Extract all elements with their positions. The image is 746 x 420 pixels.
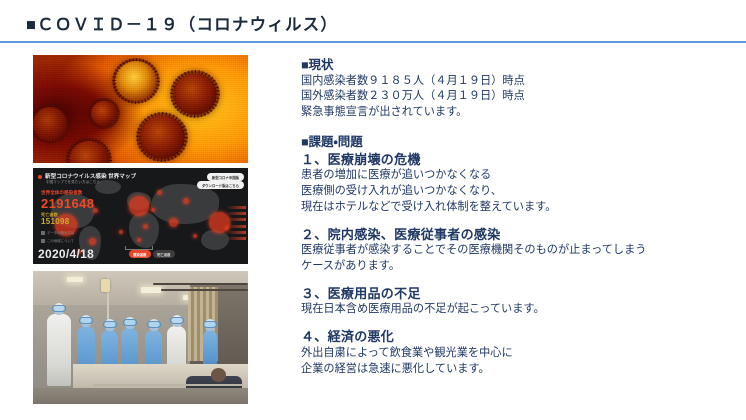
spacer: [301, 216, 731, 226]
legend-label: この地域について: [47, 239, 74, 243]
map-total-cases-value: 2191648: [41, 196, 94, 211]
section-heading-current-status: ■現状: [301, 57, 731, 74]
issue-line: 現在はホテルなどで受け入れ体制を整えています。: [301, 200, 731, 216]
ceiling-light: [141, 287, 161, 293]
map-hotspot: [89, 238, 96, 245]
map-subtitle-link[interactable]: 中国マップでを見たい方はこちら: [46, 180, 100, 185]
issue-line: 企業の経営は急速に悪化しています。: [301, 362, 731, 378]
medical-staff-person: [47, 314, 71, 386]
map-hotspot: [151, 208, 155, 212]
ranking-bar: [226, 225, 246, 228]
map-hotspot: [143, 224, 148, 229]
ceiling-light: [67, 277, 83, 282]
ceiling-pipe: [161, 289, 248, 291]
map-country-ranking-list: [226, 206, 246, 243]
ranking-bar: [226, 231, 246, 234]
section-heading-issues: ■課題・問題: [301, 134, 731, 151]
ward-floor: [33, 388, 248, 404]
legend-swatch-icon: [41, 239, 45, 243]
map-hotspot: [157, 190, 162, 195]
ceiling-pipe: [153, 283, 248, 285]
issue-line: 外出自粛によって飲食業や観光業を中心に: [301, 346, 731, 362]
map-hotspot: [183, 198, 189, 204]
face-shield-icon: [123, 319, 137, 326]
legend-swatch-icon: [41, 231, 45, 235]
hospital-ward-image: [33, 271, 248, 404]
issue-line: 医療側の受け入れが追いつかなくなり、: [301, 184, 731, 200]
map-hotspot: [129, 196, 149, 216]
issue-title-4: ４、経済の悪化: [301, 328, 731, 345]
map-legend-item[interactable]: データの読み方は: [41, 230, 74, 235]
text-column: ■現状 国内感染者数９１８５人（４月１９日）時点 国外感染者数２３０万人（４月１…: [301, 57, 731, 378]
status-line: 緊急事態宣言が出されています。: [301, 105, 731, 121]
map-hotspot: [169, 218, 178, 227]
face-shield-icon: [103, 321, 117, 328]
spacer: [301, 318, 731, 328]
world-infection-map-image: 新型コロナウイルス感染 世界マップ 中国マップでを見たい方はこちら 世界全体の感…: [33, 168, 248, 264]
map-toggle-cases[interactable]: 感染者数: [129, 250, 151, 258]
coronavirus-micrograph-image: [33, 55, 248, 163]
issue-line: 現在日本含め医療用品の不足が起こっています。: [301, 302, 731, 318]
issue-line: 医療従事者が感染することでその医療機関そのものが止まってしまう: [301, 243, 731, 259]
face-shield-icon: [203, 321, 217, 328]
ranking-bar: [226, 237, 246, 240]
issue-line: 患者の増加に医療が追いつかなくなる: [301, 168, 731, 184]
patient-head: [211, 368, 226, 382]
map-landmass-africa: [129, 212, 159, 248]
map-date-label: 2020/4/18: [38, 247, 94, 261]
face-shield-icon: [52, 305, 66, 312]
face-shield-icon: [147, 321, 161, 328]
map-toggle-deaths[interactable]: 死亡者数: [153, 250, 175, 258]
issue-line: ケースがあります。: [301, 259, 731, 275]
bed-rail: [93, 384, 243, 386]
legend-label: データの読み方は: [47, 231, 74, 235]
spacer: [301, 275, 731, 285]
spacer: [301, 121, 731, 134]
map-deaths-value: 151098: [41, 217, 70, 226]
title-divider: [0, 41, 746, 43]
map-status-dot-icon: [38, 175, 42, 179]
page-title: ■ＣＯＶＩＤ－１９（コロナウィルス）: [26, 11, 338, 35]
map-hotspot: [119, 230, 123, 234]
ranking-bar: [226, 206, 246, 209]
iv-bag: [101, 279, 110, 292]
ranking-bar: [226, 218, 246, 221]
map-button-china-version[interactable]: 新型コロナ中国版: [207, 173, 244, 181]
issue-title-2: ２、院内感染、医療従事者の感染: [301, 226, 731, 243]
map-hotspot: [137, 238, 141, 242]
status-line: 国内感染者数９１８５人（４月１９日）時点: [301, 74, 731, 90]
map-button-download[interactable]: ダウンロード版はこちら: [197, 181, 244, 189]
map-legend-item[interactable]: この地域について: [41, 238, 74, 243]
face-shield-icon: [79, 317, 93, 324]
micrograph-grain-overlay: [33, 55, 248, 163]
ranking-bar: [226, 212, 246, 215]
map-hotspot: [193, 234, 197, 238]
status-line: 国外感染者数２３０万人（４月１９日）時点: [301, 89, 731, 105]
face-shield-icon: [170, 317, 184, 324]
issue-title-1: １、医療崩壊の危機: [301, 151, 731, 168]
issue-title-3: ３、医療用品の不足: [301, 285, 731, 302]
